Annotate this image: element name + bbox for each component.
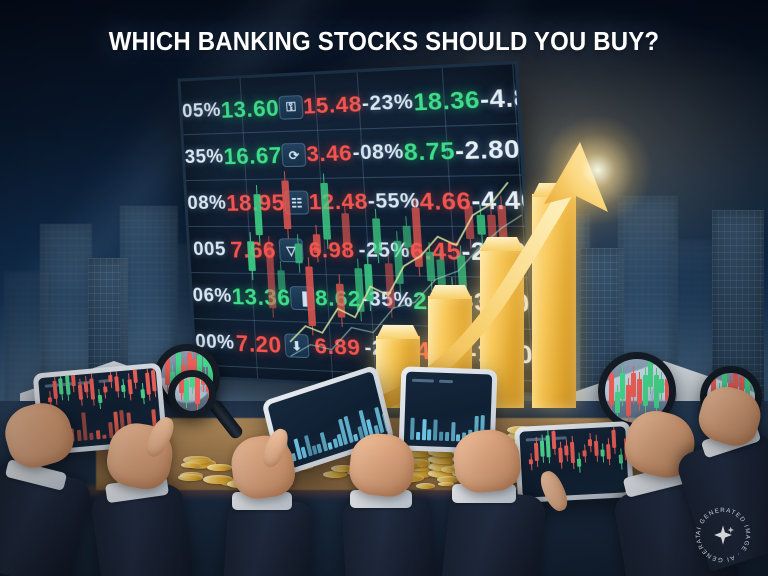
arrow-glow [544,116,652,224]
coin [207,464,231,471]
row-mid: 15.48 [302,92,362,120]
row-value: 13.60 [220,95,280,124]
page-title: WHICH BANKING STOCKS SHOULD YOU BUY? [23,28,745,57]
coin [178,474,203,481]
row-value: 13.36 [231,283,291,311]
row-mid: 6.89 [310,334,365,361]
download-icon: ⬇ [282,333,311,358]
row-mid: 3.46 [305,141,353,167]
row-mid: 6.98 [304,238,359,264]
row-mid: 12.48 [308,189,369,215]
row-value: 7.66 [228,237,278,264]
tablet-right[interactable] [514,421,634,503]
tablet-center-right-header [412,376,486,387]
chart-icon: ☷ [284,191,309,215]
coin [416,483,435,489]
magnifier-far-left[interactable] [168,370,232,450]
row-pct: 08% [187,192,227,214]
row-pct: 35% [184,146,224,169]
bars-icon: ▐ [290,286,316,311]
row-value: 18.95 [226,189,286,216]
poster-canvas: BANK BANK 05%13.60⚿15.48-23%18.36-4.8635… [0,0,768,576]
row-pct: 06% [192,285,232,308]
tablet-right-screen [519,426,628,497]
ai-generated-watermark: AI GENERATED IMAGE · AI GENERATED IMAGE … [692,504,754,566]
sparkle-icon [712,524,734,546]
refresh-icon: ⟳ [281,143,306,167]
row-mid: 8.62 [314,286,363,312]
row-pct: 05% [182,99,222,123]
row-value: 16.67 [223,142,283,170]
filter-icon: ▽ [277,238,306,262]
lock-icon: ⚿ [278,95,303,120]
magnifier-lens-far-left [168,370,216,418]
coin [438,482,454,487]
row-pct: 005 [190,238,230,260]
gold-growth-graphic [376,108,636,408]
